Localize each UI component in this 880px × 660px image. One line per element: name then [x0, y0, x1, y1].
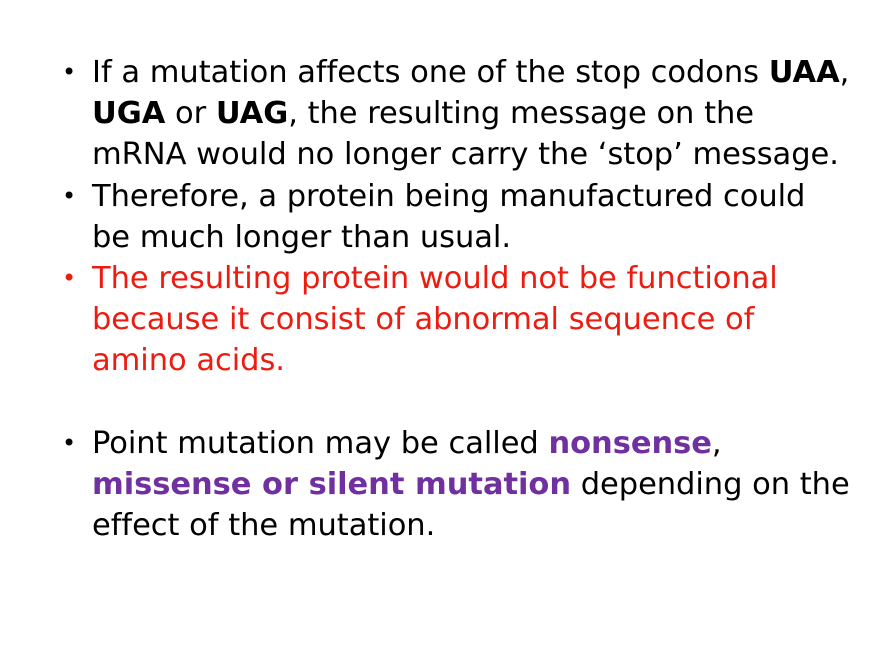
text-segment: If a mutation affects one of the stop co…	[92, 55, 769, 90]
bullet-text-non-functional: The resulting protein would not be funct…	[92, 261, 778, 378]
slide-canvas: • If a mutation affects one of the stop …	[0, 0, 880, 660]
text-segment-bold-uag: UAG	[216, 96, 288, 131]
bullet-icon: •	[62, 176, 71, 217]
text-segment: ,	[712, 426, 722, 461]
text-segment: Therefore, a protein being manufactured …	[92, 179, 805, 255]
text-segment-bold-uaa: UAA	[769, 55, 840, 90]
bullet-text-stop-codons: If a mutation affects one of the stop co…	[92, 55, 849, 172]
text-segment: Point mutation may be called	[92, 426, 548, 461]
bullet-icon: •	[62, 52, 71, 93]
bullet-text-point-mutation-types: Point mutation may be called nonsense, m…	[92, 426, 850, 543]
bullet-icon: •	[62, 423, 71, 464]
text-segment-keyword-missense-silent: missense or silent mutation	[92, 467, 571, 502]
text-segment: The resulting protein would not be funct…	[92, 261, 778, 378]
bullet-icon: •	[62, 258, 71, 299]
bullet-text-longer-protein: Therefore, a protein being manufactured …	[92, 179, 805, 255]
text-segment: or	[165, 96, 216, 131]
text-segment-bold-uga: UGA	[92, 96, 165, 131]
text-segment: ,	[840, 55, 850, 90]
text-segment-keyword-nonsense: nonsense	[548, 426, 711, 461]
list-item-longer-protein: • Therefore, a protein being manufacture…	[52, 176, 852, 258]
list-item-stop-codons: • If a mutation affects one of the stop …	[52, 52, 852, 176]
list-item-point-mutation-types: • Point mutation may be called nonsense,…	[52, 423, 852, 547]
blank-spacer-line	[52, 382, 852, 423]
bullet-list: • If a mutation affects one of the stop …	[52, 52, 852, 546]
list-item-non-functional: • The resulting protein would not be fun…	[52, 258, 852, 382]
